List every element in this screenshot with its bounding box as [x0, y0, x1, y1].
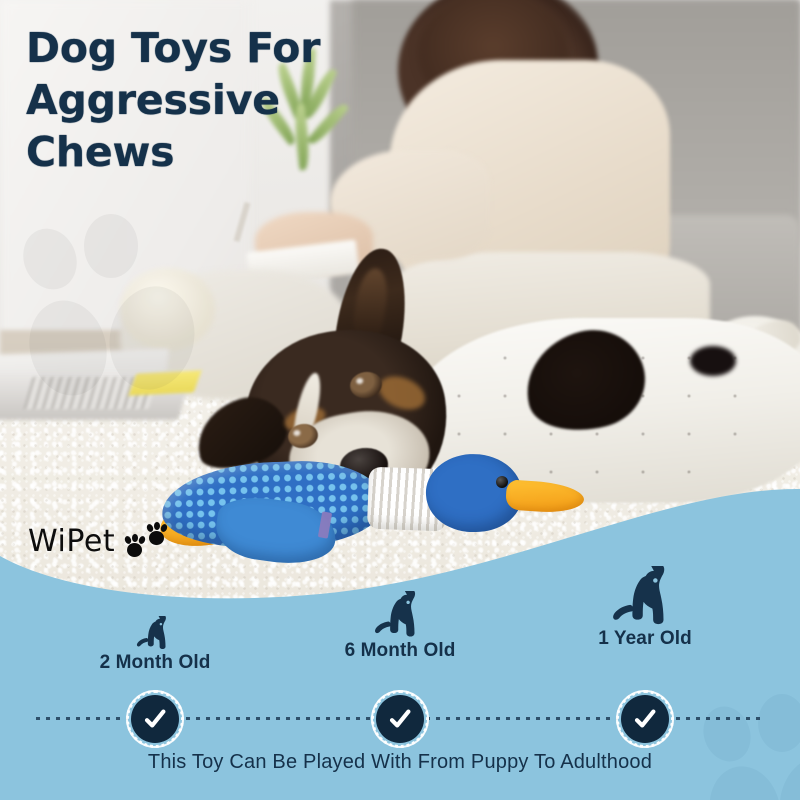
- headline-line-3: Chews: [26, 126, 366, 178]
- check-icon: [633, 707, 657, 731]
- check-badge-1: [376, 695, 424, 743]
- age-stage-1: 6 Month Old: [280, 582, 520, 662]
- age-suitability-panel: 2 Month Old 6 Month Old 1 Year Old: [0, 588, 800, 800]
- product-marketing-image: Dog Toys For Aggressive Chews WiPet: [0, 0, 800, 800]
- dog-silhouette-icon: [35, 594, 275, 650]
- age-stage-label: 6 Month Old: [280, 640, 520, 662]
- timeline-track: [0, 693, 800, 743]
- dog-silhouette-glyph: [608, 566, 682, 626]
- dog-silhouette-icon: [525, 570, 765, 626]
- toy-eye: [496, 476, 508, 488]
- headline-line-1: Dog Toys For: [26, 22, 366, 74]
- check-icon: [388, 707, 412, 731]
- age-stage-label: 1 Year Old: [525, 628, 765, 650]
- age-stage-2: 1 Year Old: [525, 570, 765, 650]
- check-badge-0: [131, 695, 179, 743]
- footer-tagline: This Toy Can Be Played With From Puppy T…: [0, 751, 800, 774]
- age-stage-label: 2 Month Old: [35, 652, 275, 674]
- dog-silhouette-glyph: [371, 591, 429, 638]
- headline-line-2: Aggressive: [26, 74, 366, 126]
- dog-silhouette-glyph: [134, 616, 176, 650]
- check-badge-2: [621, 695, 669, 743]
- check-icon: [143, 707, 167, 731]
- duck-plush-toy: [150, 448, 520, 568]
- page-title: Dog Toys For Aggressive Chews: [26, 22, 366, 178]
- dog-spot-small: [690, 346, 736, 376]
- watermark-paw-top-left: [22, 222, 212, 402]
- age-stage-0: 2 Month Old: [35, 594, 275, 674]
- dog-silhouette-icon: [280, 582, 520, 638]
- brand-name: WiPet: [28, 524, 115, 559]
- age-stage-row: 2 Month Old 6 Month Old 1 Year Old: [0, 588, 800, 688]
- brand-logo: WiPet: [28, 522, 171, 560]
- paw-print-icon: [125, 522, 171, 560]
